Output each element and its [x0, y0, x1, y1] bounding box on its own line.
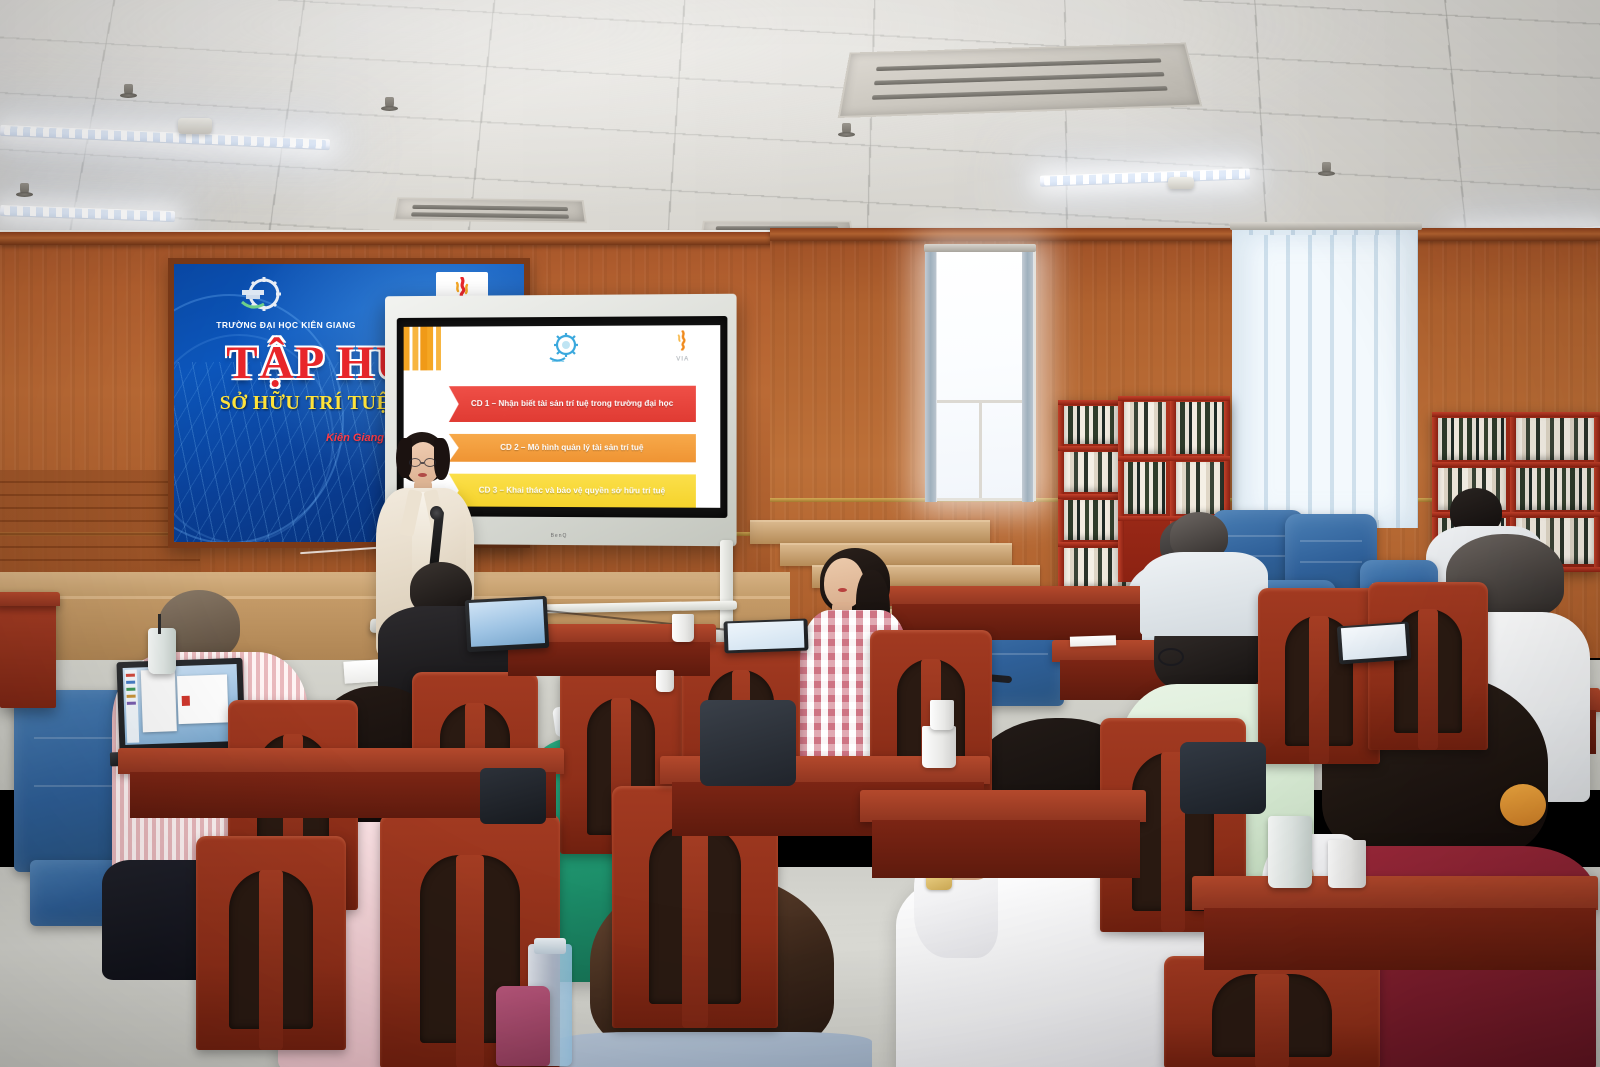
attendee-maroon-right-hair-clip	[1500, 784, 1546, 826]
tumbler-left[interactable]	[148, 628, 176, 674]
slide-via-label: VIA	[672, 357, 694, 363]
bag-under-desk-3	[480, 768, 546, 824]
slide-bar-cd3: CD 3 – Khai thác và bảo vệ quyền sở hữu …	[449, 474, 696, 508]
laptop-left-screen[interactable]	[123, 664, 239, 745]
laptop-center[interactable]	[723, 619, 808, 654]
wooden-chair-12[interactable]	[196, 836, 346, 1050]
slide-gear-network-logo-icon	[548, 332, 582, 362]
smoke-detector-1	[178, 118, 212, 134]
paper-cup-4[interactable]	[1328, 840, 1366, 888]
presenter-hair-side-left	[396, 438, 412, 478]
presenter-mouth	[418, 473, 427, 477]
wooden-chair-9[interactable]	[1258, 588, 1380, 764]
window-blind-right-edge	[1022, 248, 1034, 502]
ceiling-shading	[0, 0, 1600, 252]
slide-bar-cd1: CD 1 – Nhận biết tài sản trí tuệ trong t…	[449, 386, 696, 422]
paper-cup-1[interactable]	[922, 726, 956, 768]
window-blind-left-edge	[925, 248, 937, 502]
laptop-stage[interactable]	[465, 596, 550, 652]
water-bottle-cap	[534, 938, 566, 954]
presenter-hair-side-right	[434, 438, 450, 480]
laptop-right-screen[interactable]	[1341, 624, 1408, 660]
university-logo-icon	[236, 276, 282, 318]
document-right-1	[1070, 635, 1116, 647]
slide-via-logo: VIA	[672, 330, 694, 360]
desk-right-fg-apron	[1204, 908, 1596, 970]
desk-back-right-top	[886, 586, 1152, 606]
attendee-mint-shirt-glasses	[1158, 648, 1184, 666]
laptop-left[interactable]	[116, 658, 245, 754]
window-blind-rail-left	[924, 244, 1036, 252]
smoke-detector-2	[1168, 177, 1194, 189]
desk-center-fg-apron	[872, 820, 1140, 878]
sprinkler-3	[842, 123, 851, 136]
podium-left-top	[0, 592, 60, 606]
paper-cup-3[interactable]	[930, 700, 954, 730]
tumbler-left-straw	[158, 614, 161, 634]
sprinkler-1	[124, 84, 133, 97]
window-blind-rail-right	[1230, 222, 1422, 230]
tumbler-right[interactable]	[1268, 816, 1312, 888]
handbag	[496, 986, 550, 1066]
sprinkler-4	[1322, 162, 1331, 175]
attendee-maroon-center-top	[556, 1032, 872, 1067]
presenter-glasses-bridge	[421, 462, 424, 464]
paper-cup-2[interactable]	[672, 614, 694, 642]
ac-vent-1	[838, 43, 1203, 118]
bag-under-desk-2	[1180, 742, 1266, 814]
sprinkler-5	[385, 97, 394, 110]
laptop-stage-screen[interactable]	[469, 599, 545, 647]
banner-organization: TRƯỜNG ĐẠI HỌC KIÊN GIANG	[186, 320, 386, 330]
bag-under-desk-1	[700, 700, 796, 786]
laptop-center-screen[interactable]	[728, 621, 805, 651]
attendee-checkered-mouth	[838, 588, 847, 592]
slide-bar-cd2: CD 2 – Mô hình quản lý tài sản trí tuệ	[449, 434, 696, 462]
vertical-blinds-right-inner	[1246, 235, 1406, 520]
ac-vent-2	[393, 197, 587, 223]
display-brand-label: BenQ	[551, 533, 568, 539]
presenter-glasses-right-lens	[424, 458, 436, 467]
slide-via-flame-icon	[676, 330, 690, 350]
window-left	[928, 249, 1036, 501]
attendee-grey-back	[1140, 512, 1270, 632]
paper-cup-5[interactable]	[656, 670, 674, 692]
desk-center-fg-top	[860, 790, 1146, 822]
sprinkler-2	[20, 183, 29, 196]
attendee-grey-back-shirt	[1140, 552, 1268, 636]
ceiling	[0, 0, 1600, 252]
stage-step-1	[750, 520, 990, 544]
presenter-glasses-left-lens	[409, 458, 421, 467]
desk-right-fg-top	[1192, 876, 1598, 910]
microphone-head	[430, 506, 443, 520]
seminar-room-photo: TRƯỜNG ĐẠI HỌC KIÊN GIANG TẬP HUẤN SỞ HỮ…	[0, 0, 1600, 1067]
slide-accent-bars	[404, 327, 441, 371]
wooden-chair-11[interactable]	[1164, 956, 1380, 1067]
laptop-right[interactable]	[1337, 622, 1411, 665]
podium-left	[0, 596, 56, 708]
wooden-chair-10[interactable]	[1368, 582, 1488, 750]
